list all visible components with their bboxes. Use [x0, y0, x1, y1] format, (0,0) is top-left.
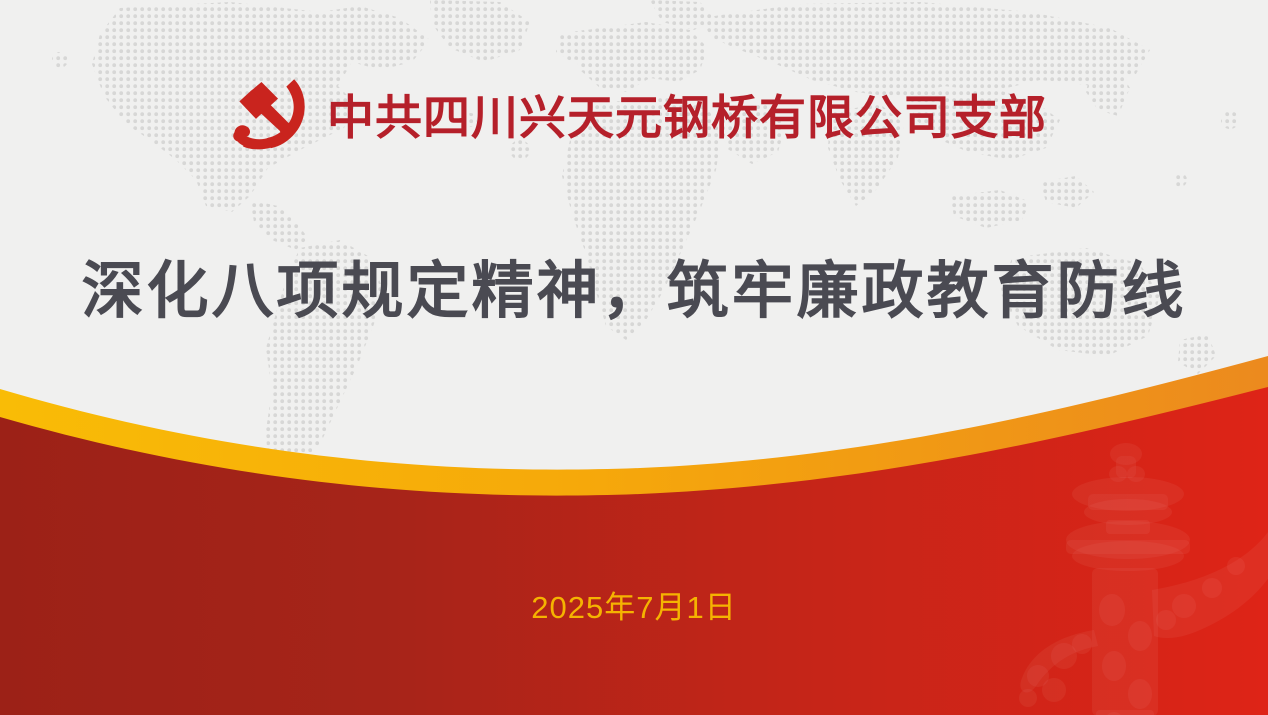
slide-date: 2025年7月1日: [0, 592, 1268, 623]
ccp-hammer-sickle-emblem: [221, 68, 313, 166]
organization-name: 中共四川兴天元钢桥有限公司支部: [327, 94, 1047, 141]
slide-canvas: 中共四川兴天元钢桥有限公司支部 深化八项规定精神，筑牢廉政教育防线 2025年7…: [0, 0, 1268, 715]
slide-title: 深化八项规定精神，筑牢廉政教育防线: [0, 255, 1268, 329]
slide-header: 中共四川兴天元钢桥有限公司支部: [0, 62, 1268, 172]
